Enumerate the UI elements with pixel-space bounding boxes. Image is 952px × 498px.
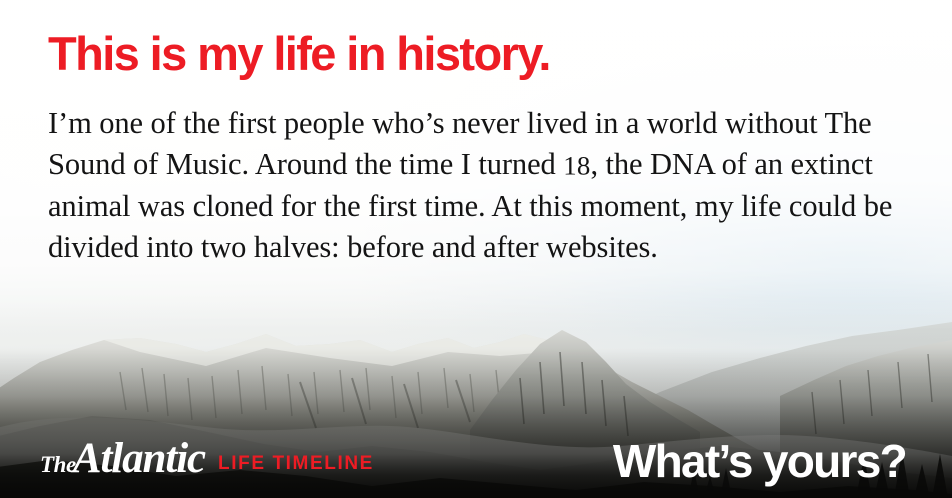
body-age-number: 18 <box>563 150 590 180</box>
life-timeline-tagline: LIFE TIMELINE <box>218 453 374 480</box>
logo-the-word: The <box>40 452 76 477</box>
copy-block: This is my life in history. I’m one of t… <box>48 30 918 268</box>
headline: This is my life in history. <box>48 30 918 77</box>
body-paragraph: I’m one of the first people who’s never … <box>48 103 910 268</box>
life-timeline-card: This is my life in history. I’m one of t… <box>0 0 952 498</box>
call-to-action-text: What’s yours? <box>613 438 906 484</box>
the-atlantic-logo[interactable]: TheAtlantic <box>40 437 205 480</box>
logo-atlantic-word: Atlantic <box>73 435 205 482</box>
brand-lockup[interactable]: TheAtlantic LIFE TIMELINE <box>40 437 374 480</box>
footer-bar: TheAtlantic LIFE TIMELINE What’s yours? <box>0 402 952 498</box>
